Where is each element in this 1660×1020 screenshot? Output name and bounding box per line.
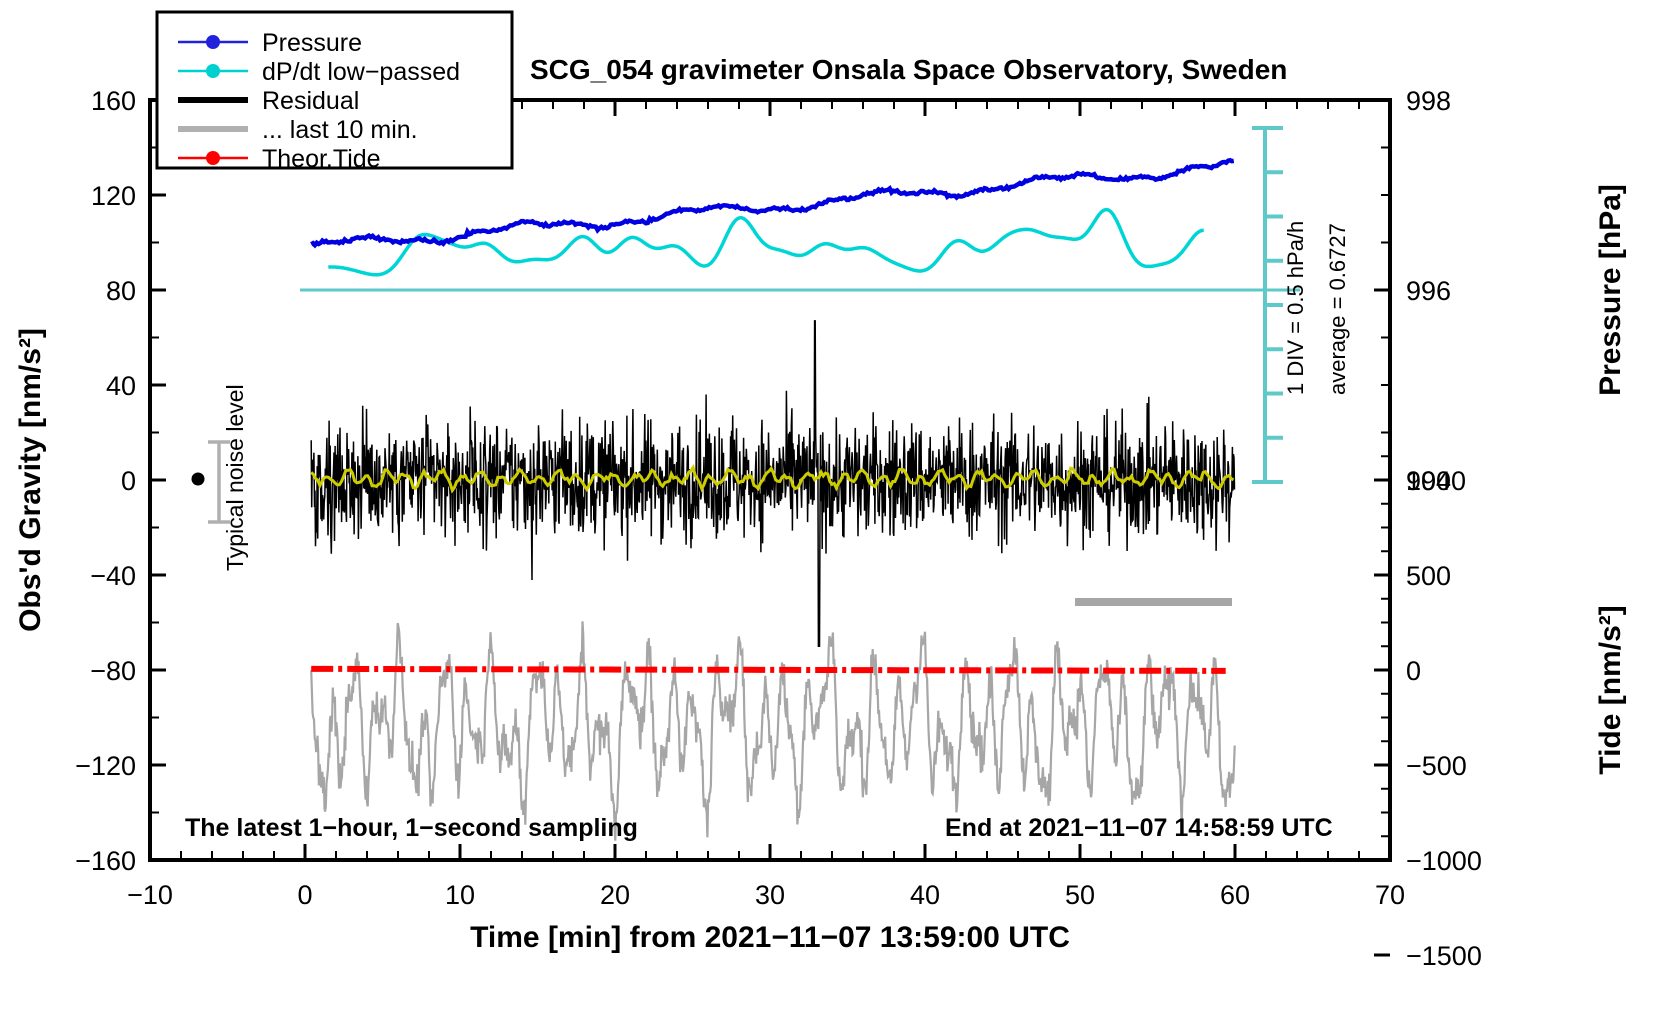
scalebar-label-div: 1 DIV = 0.5 hPa/h	[1283, 221, 1308, 395]
y-tick-label: 0	[121, 466, 136, 496]
x-axis-title: Time [min] from 2021−11−07 13:59:00 UTC	[470, 921, 1070, 954]
x-tick-label: 40	[910, 880, 940, 910]
legend-item-label: Theor.Tide	[262, 145, 381, 173]
tide-tick-label: 1000	[1406, 466, 1466, 496]
y-axis-tide-title: Tide [nm/s²]	[1594, 605, 1627, 774]
x-tick-label: 50	[1065, 880, 1095, 910]
typical-noise-level-label: Typical noise level	[222, 384, 248, 571]
y-tick-label: −80	[90, 656, 136, 686]
x-tick-label: −10	[127, 880, 173, 910]
legend-item-label: Pressure	[262, 29, 362, 57]
tide-tick-label: −1500	[1406, 941, 1482, 971]
tide-tick-label: −1000	[1406, 846, 1482, 876]
y-axis-pressure-title: Pressure [hPa]	[1594, 184, 1627, 396]
footer-left-note: The latest 1−hour, 1−second sampling	[185, 814, 638, 842]
tide-tick-label: 500	[1406, 561, 1451, 591]
legend-item-label: ... last 10 min.	[262, 116, 418, 144]
tide-tick-label: −500	[1406, 751, 1467, 781]
y-tick-label: 40	[106, 371, 136, 401]
x-tick-label: 70	[1375, 880, 1405, 910]
scalebar-label-average: average = 0.6727	[1325, 223, 1350, 395]
legend-item-label: Residual	[262, 87, 359, 115]
y-tick-label: −40	[90, 561, 136, 591]
legend-swatch-marker	[206, 35, 220, 49]
gravimeter-plot: −10010203040506070 16012080400−40−80−120…	[0, 0, 1660, 1020]
x-tick-label: 60	[1220, 880, 1250, 910]
pressure-tick-label: 996	[1406, 276, 1451, 306]
y-tick-label: 120	[91, 181, 136, 211]
legend-item-label: dP/dt low−passed	[262, 58, 460, 86]
x-tick-label: 20	[600, 880, 630, 910]
legend-swatch-marker	[206, 151, 220, 165]
y-tick-label: −160	[75, 846, 136, 876]
legend[interactable]: PressuredP/dt low−passedResidual... last…	[157, 12, 512, 173]
legend-swatch-marker	[206, 64, 220, 78]
x-tick-label: 10	[445, 880, 475, 910]
x-tick-label: 0	[297, 880, 312, 910]
y-axis-left-title: Obs'd Gravity [nm/s²]	[14, 328, 47, 632]
chart-canvas: −10010203040506070 16012080400−40−80−120…	[0, 0, 1660, 1020]
y-tick-label: −120	[75, 751, 136, 781]
y-tick-label: 160	[91, 86, 136, 116]
pressure-tick-label: 998	[1406, 86, 1451, 116]
x-tick-label: 30	[755, 880, 785, 910]
page-title: SCG_054 gravimeter Onsala Space Observat…	[530, 54, 1287, 85]
y-tick-label: 80	[106, 276, 136, 306]
tide-tick-label: 0	[1406, 656, 1421, 686]
footer-right-note: End at 2021−11−07 14:58:59 UTC	[945, 814, 1333, 842]
